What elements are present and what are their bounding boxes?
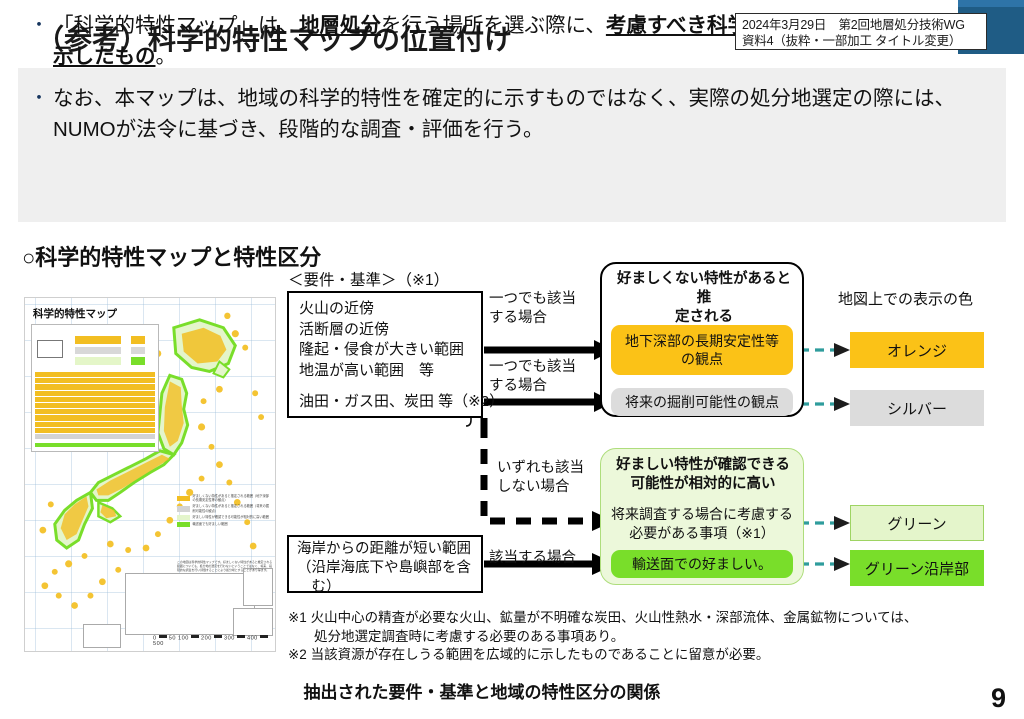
requirement-item: 活断層の近傍 — [299, 320, 475, 341]
scientific-characteristics-map-image: 科学的特性マップ — [24, 297, 276, 652]
condition-label-4: 該当する場合 — [489, 549, 576, 568]
condition-line: する場合 — [489, 377, 576, 396]
map-legend-item: 好ましくない特性があると推定される範囲（将来の掘削可能性の観点） — [177, 504, 269, 513]
figure-caption: 抽出された要件・基準と地域の特性区分の関係 — [0, 678, 1024, 703]
requirement-item: 地温が高い範囲 等 — [299, 361, 475, 382]
page-number: 9 — [991, 683, 1006, 714]
map-legend-item: 好ましくない特性があると推定される範囲（地下深部の長期安定性等の観点） — [177, 494, 269, 503]
inset-criteria-table — [35, 372, 155, 447]
requirement-item: 隆起・侵食が大きい範囲 — [299, 340, 475, 361]
footnote-2: ※2 当該資源が存在しうる範囲を広域的に示したものであることに留意が必要。 — [288, 646, 988, 665]
color-chip-green-coastal: グリーン沿岸部 — [850, 550, 984, 586]
condition-line: 一つでも該当 — [489, 358, 576, 377]
condition-line: する場合 — [489, 309, 576, 328]
pill-line: の観点 — [625, 350, 779, 368]
scale-tick: 100 — [178, 635, 189, 641]
legend-label: 好ましい特性が確認できる可能性が相対的に高い範囲 — [193, 515, 270, 519]
map-scale-bar: 0 50 100 200 300 400 500 — [153, 635, 275, 647]
inset-flow-orange — [75, 336, 121, 344]
map-inset-schematic — [31, 324, 159, 452]
legend-swatch-green — [177, 515, 190, 520]
color-chip-green: グリーン — [850, 505, 984, 541]
requirement-item-resources: 油田・ガス田、炭田 等（※2） — [299, 392, 475, 413]
map-inset-ogasawara — [233, 608, 273, 636]
header-source-note: 2024年3月29日 第2回地層処分技術WG 資料4（抜粋・一部加工 タイトル変… — [735, 13, 987, 50]
map-inset-izu — [243, 568, 273, 606]
group-unfavorable-title: 好ましくない特性があると推 定される — [612, 270, 796, 327]
coastal-line1: 海岸からの距離が短い範囲 — [297, 540, 477, 559]
condition-label-2: 一つでも該当 する場合 — [489, 358, 576, 396]
condition-label-3: いずれも該当 しない場合 — [497, 459, 584, 497]
group-favorable-title: 好ましい特性が確認できる 可能性が相対的に高い — [609, 456, 797, 494]
color-chip-orange: オレンジ — [850, 332, 984, 368]
color-chip-silver: シルバー — [850, 390, 984, 426]
favorable-note: 将来調査する場合に考慮する 必要がある事項（※1） — [608, 505, 796, 543]
inset-chip-green — [131, 357, 145, 365]
legend-label: 好ましくない特性があると推定される範囲（将来の掘削可能性の観点） — [193, 504, 270, 513]
favorable-note-line: 必要がある事項（※1） — [608, 524, 796, 543]
title-line: 可能性が相対的に高い — [609, 475, 797, 494]
inset-flow-silver — [75, 347, 121, 354]
legend-label: 好ましくない特性があると推定される範囲（地下深部の長期安定性等の観点） — [193, 494, 270, 503]
footnote-1-line1: ※1 火山中心の精査が必要な火山、鉱量が不明確な炭田、火山性熱水・深部流体、金属… — [288, 609, 988, 628]
coastal-line2: （沿岸海底下や島嶼部を含 — [297, 559, 477, 578]
condition-label-1: 一つでも該当 する場合 — [489, 290, 576, 328]
coastal-distance-box: 海岸からの距離が短い範囲 （沿岸海底下や島嶼部を含 む） — [287, 535, 483, 593]
criterion-pill-transport: 輸送面での好ましい。 — [611, 550, 793, 578]
footnotes: ※1 火山中心の精査が必要な火山、鉱量が不明確な炭田、火山性熱水・深部流体、金属… — [288, 609, 988, 665]
title-line: 好ましい特性が確認できる — [609, 456, 797, 475]
title-line: 好ましくない特性があると推 — [612, 270, 796, 308]
criterion-pill-deep-stability: 地下深部の長期安定性等 の観点 — [611, 325, 793, 375]
legend-swatch-silver — [177, 506, 190, 511]
inset-flow-source — [37, 340, 63, 358]
map-color-legend-title: 地図上での表示の色 — [838, 288, 973, 309]
requirements-box: 火山の近傍 活断層の近傍 隆起・侵食が大きい範囲 地温が高い範囲 等 油田・ガス… — [287, 291, 483, 418]
legend-label: 輸送面でも好ましい範囲 — [193, 522, 270, 526]
header-note-line2: 資料4（抜粋・一部加工 タイトル変更） — [742, 33, 981, 49]
coastal-line3: む） — [297, 578, 477, 597]
inset-chip-silver — [131, 347, 145, 354]
condition-line: いずれも該当 — [497, 459, 584, 478]
map-legend-item: 好ましい特性が確認できる可能性が相対的に高い範囲 — [177, 515, 269, 520]
requirements-label: ＜要件・基準＞（※1） — [288, 268, 449, 290]
map-note: この地図は科学的特性マップです。好ましくない特性があると推定される範囲についても… — [177, 560, 273, 572]
legend-swatch-orange — [177, 496, 190, 501]
scale-tick: 400 — [247, 635, 258, 641]
condition-line: 該当する場合 — [489, 549, 576, 568]
legend-swatch-green-coastal — [177, 522, 190, 527]
slide-root: 2024年3月29日 第2回地層処分技術WG 資料4（抜粋・一部加工 タイトル変… — [0, 0, 1024, 719]
map-inset-okinawa — [83, 624, 121, 648]
map-legend: 好ましくない特性があると推定される範囲（地下深部の長期安定性等の観点） 好ましく… — [177, 494, 269, 529]
criterion-pill-future-drilling: 将来の掘削可能性の観点 — [611, 388, 793, 416]
scale-tick: 200 — [201, 635, 212, 641]
footnote-1-line2: 処分地選定調査時に考慮する必要のある事項あり。 — [288, 628, 988, 647]
requirement-item: 火山の近傍 — [299, 299, 475, 320]
inset-flow-green — [75, 357, 121, 365]
pill-line: 地下深部の長期安定性等 — [625, 332, 779, 350]
inset-chip-orange — [131, 336, 145, 344]
map-title: 科学的特性マップ — [33, 306, 117, 321]
header-note-line1: 2024年3月29日 第2回地層処分技術WG — [742, 17, 981, 33]
favorable-note-line: 将来調査する場合に考慮する — [608, 505, 796, 524]
scale-tick: 50 — [169, 635, 176, 641]
map-legend-item: 輸送面でも好ましい範囲 — [177, 522, 269, 527]
scale-tick: 500 — [153, 641, 164, 647]
condition-line: しない場合 — [497, 478, 584, 497]
scale-tick: 300 — [224, 635, 235, 641]
condition-line: 一つでも該当 — [489, 290, 576, 309]
